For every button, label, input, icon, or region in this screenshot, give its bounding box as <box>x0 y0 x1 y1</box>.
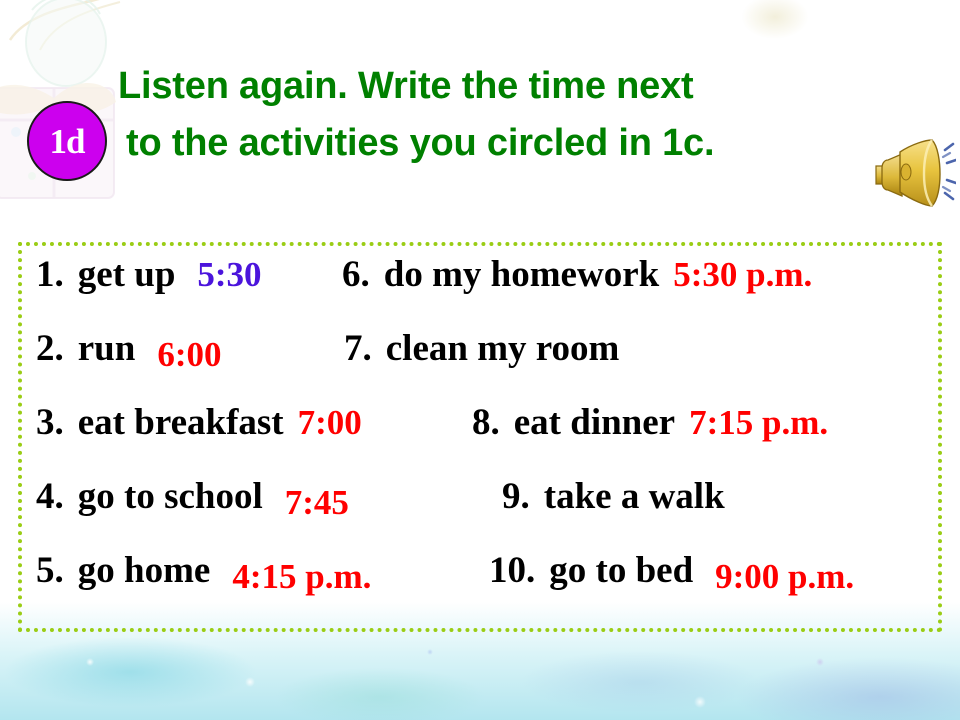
exercise-badge-label: 1d <box>50 124 85 159</box>
activity-time: 7:45 <box>285 485 349 520</box>
activity-label: eat dinner <box>514 404 675 441</box>
activity-time: 7:00 <box>298 405 362 440</box>
activity-item-1[interactable]: 1. get up 5:30 <box>36 256 262 293</box>
activity-number: 9. <box>502 478 530 515</box>
activity-number: 1. <box>36 256 64 293</box>
activity-row: 1. get up 5:30 6. do my homework 5:30 p.… <box>22 256 938 328</box>
activity-item-8[interactable]: 8. eat dinner 7:15 p.m. <box>472 404 828 441</box>
activity-item-3[interactable]: 3. eat breakfast 7:00 <box>36 404 362 441</box>
activity-time: 9:00 p.m. <box>715 559 854 594</box>
activity-item-10[interactable]: 10. go to bed 9:00 p.m. <box>489 552 854 589</box>
page-title-line2: to the activities you circled in 1c. <box>118 115 908 172</box>
activity-row: 2. run 6:00 7. clean my room <box>22 330 938 402</box>
activity-label: run <box>78 330 136 367</box>
activity-label: clean my room <box>386 330 620 367</box>
activity-time: 4:15 p.m. <box>232 559 371 594</box>
activity-time: 6:00 <box>157 337 221 372</box>
sparkle-decoration <box>740 0 810 40</box>
audio-speaker-icon[interactable] <box>872 136 956 212</box>
activity-item-9[interactable]: 9. take a walk <box>502 478 739 515</box>
activity-row: 3. eat breakfast 7:00 8. eat dinner 7:15… <box>22 404 938 476</box>
activity-label: go to school <box>78 478 263 515</box>
activity-item-4[interactable]: 4. go to school 7:45 <box>36 478 349 515</box>
exercise-badge: 1d <box>27 101 107 181</box>
activity-row: 5. go home 4:15 p.m. 10. go to bed 9:00 … <box>22 552 938 624</box>
page-title: Listen again. Write the time next to the… <box>118 58 908 172</box>
slide-header: 1d Listen again. Write the time next to … <box>0 44 960 194</box>
activity-time: 5:30 p.m. <box>673 257 812 292</box>
activity-item-7[interactable]: 7. clean my room <box>344 330 633 367</box>
activity-number: 6. <box>342 256 370 293</box>
activity-number: 4. <box>36 478 64 515</box>
activity-number: 7. <box>344 330 372 367</box>
activity-label: get up <box>78 256 176 293</box>
activity-label: go to bed <box>549 552 693 589</box>
activity-list-grid: 1. get up 5:30 6. do my homework 5:30 p.… <box>22 246 938 628</box>
activity-item-2[interactable]: 2. run 6:00 <box>36 330 221 367</box>
activity-item-5[interactable]: 5. go home 4:15 p.m. <box>36 552 371 589</box>
activity-number: 10. <box>489 552 535 589</box>
activity-time: 5:30 <box>197 257 261 292</box>
activity-number: 5. <box>36 552 64 589</box>
activity-label: take a walk <box>544 478 725 515</box>
activity-list-box: 1. get up 5:30 6. do my homework 5:30 p.… <box>18 242 942 632</box>
activity-label: go home <box>78 552 211 589</box>
slide-canvas: 1d Listen again. Write the time next to … <box>0 0 960 720</box>
activity-number: 3. <box>36 404 64 441</box>
activity-number: 2. <box>36 330 64 367</box>
activity-item-6[interactable]: 6. do my homework 5:30 p.m. <box>342 256 812 293</box>
activity-label: do my homework <box>384 256 659 293</box>
activity-row: 4. go to school 7:45 9. take a walk <box>22 478 938 550</box>
activity-label: eat breakfast <box>78 404 284 441</box>
activity-number: 8. <box>472 404 500 441</box>
activity-time: 7:15 p.m. <box>689 405 828 440</box>
page-title-line1: Listen again. Write the time next <box>118 58 908 115</box>
